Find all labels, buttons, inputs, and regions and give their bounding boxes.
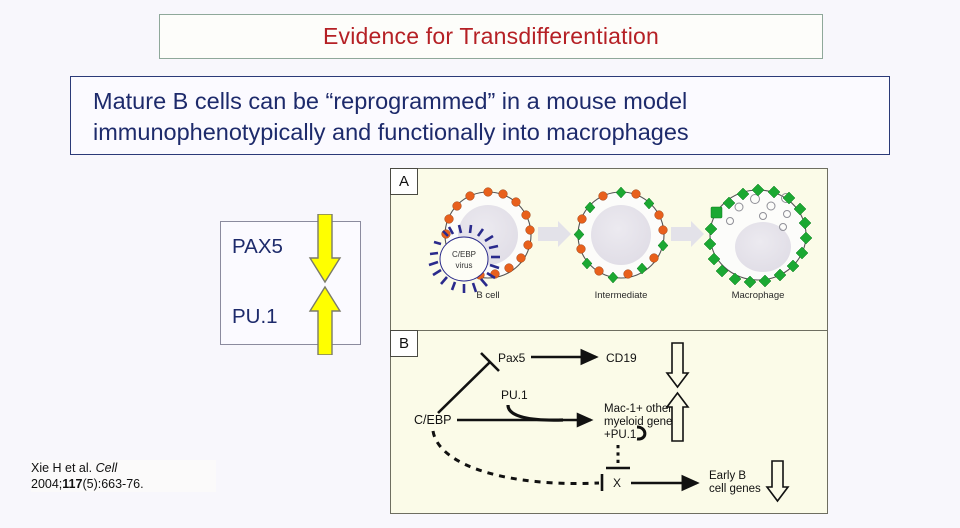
edge-cebp-inhibits-x bbox=[433, 431, 602, 491]
cell-intermediate bbox=[574, 187, 668, 283]
virus-label-line-1: C/EBP bbox=[452, 250, 476, 259]
tf-label-pax5: PAX5 bbox=[232, 235, 283, 259]
cell-caption-intermediate: Intermediate bbox=[576, 290, 666, 301]
subtitle-line-2: immunophenotypically and functionally in… bbox=[93, 117, 889, 148]
panel-b-graphic: C/EBP Pax5 PU.1 CD19 Mac-1+ other myeloi… bbox=[391, 331, 829, 512]
cell-caption-macrophage: Macrophage bbox=[713, 290, 803, 301]
figure-panel-a: A bbox=[391, 169, 827, 331]
arrow-up-icon bbox=[308, 283, 342, 355]
node-label-myeloid-line-1: Mac-1+ other bbox=[604, 403, 672, 415]
citation-line-2: 2004;117(5):663-76. bbox=[31, 476, 216, 492]
slide-canvas: Evidence for Transdifferentiation Mature… bbox=[0, 0, 960, 528]
node-label-cd19: CD19 bbox=[606, 351, 637, 365]
slide-title-box: Evidence for Transdifferentiation bbox=[159, 14, 823, 59]
arrow-down-icon bbox=[308, 214, 342, 286]
citation-volume: 117 bbox=[62, 477, 82, 491]
citation-line-1: Xie H et al. Cell bbox=[31, 460, 216, 476]
panel-a-tag: A bbox=[390, 168, 418, 195]
tf-label-pu1: PU.1 bbox=[232, 305, 278, 329]
citation: Xie H et al. Cell 2004;117(5):663-76. bbox=[31, 460, 216, 492]
node-label-earlyb-line-1: Early B bbox=[709, 470, 746, 482]
slide-subtitle-box: Mature B cells can be “reprogrammed” in … bbox=[70, 76, 890, 155]
outcome-arrow-down-earlyb-icon bbox=[767, 461, 788, 501]
citation-journal: Cell bbox=[96, 461, 118, 475]
cell-macrophage bbox=[704, 184, 812, 288]
subtitle-line-1: Mature B cells can be “reprogrammed” in … bbox=[93, 86, 889, 117]
outcome-arrow-down-cd19-icon bbox=[667, 343, 688, 387]
panel-b-tag: B bbox=[390, 330, 418, 357]
citation-year: 2004; bbox=[31, 477, 62, 491]
edge-myeloid-inhibits-x bbox=[606, 445, 630, 468]
node-label-x: X bbox=[613, 476, 621, 490]
page-title: Evidence for Transdifferentiation bbox=[323, 23, 659, 50]
citation-pages: (5):663-76. bbox=[82, 477, 143, 491]
virus-label-line-2: virus bbox=[456, 261, 473, 270]
edge-pu1-autoregulation-icon bbox=[637, 427, 645, 439]
cell-caption-b-cell: B cell bbox=[448, 290, 528, 301]
edge-cebp-inhibits-pax5 bbox=[438, 353, 499, 413]
node-label-pu1: PU.1 bbox=[501, 388, 528, 402]
edge-pu1-activates-myeloid bbox=[508, 405, 563, 420]
node-label-myeloid-line-3: +PU.1 bbox=[604, 429, 636, 441]
node-label-cebp: C/EBP bbox=[414, 413, 452, 427]
transition-arrow-2-icon bbox=[671, 221, 704, 247]
node-label-myeloid-line-2: myeloid genes bbox=[604, 416, 678, 428]
node-label-earlyb-line-2: cell genes bbox=[709, 483, 761, 495]
citation-authors: Xie H et al. bbox=[31, 461, 96, 475]
figure-container: A bbox=[390, 168, 828, 514]
node-label-pax5: Pax5 bbox=[498, 351, 526, 365]
panel-a-graphic: C/EBP virus bbox=[391, 169, 829, 330]
transition-arrow-1-icon bbox=[538, 221, 571, 247]
figure-panel-b: B C/EBP Pax5 PU.1 CD19 Mac-1+ other myel… bbox=[391, 331, 827, 513]
